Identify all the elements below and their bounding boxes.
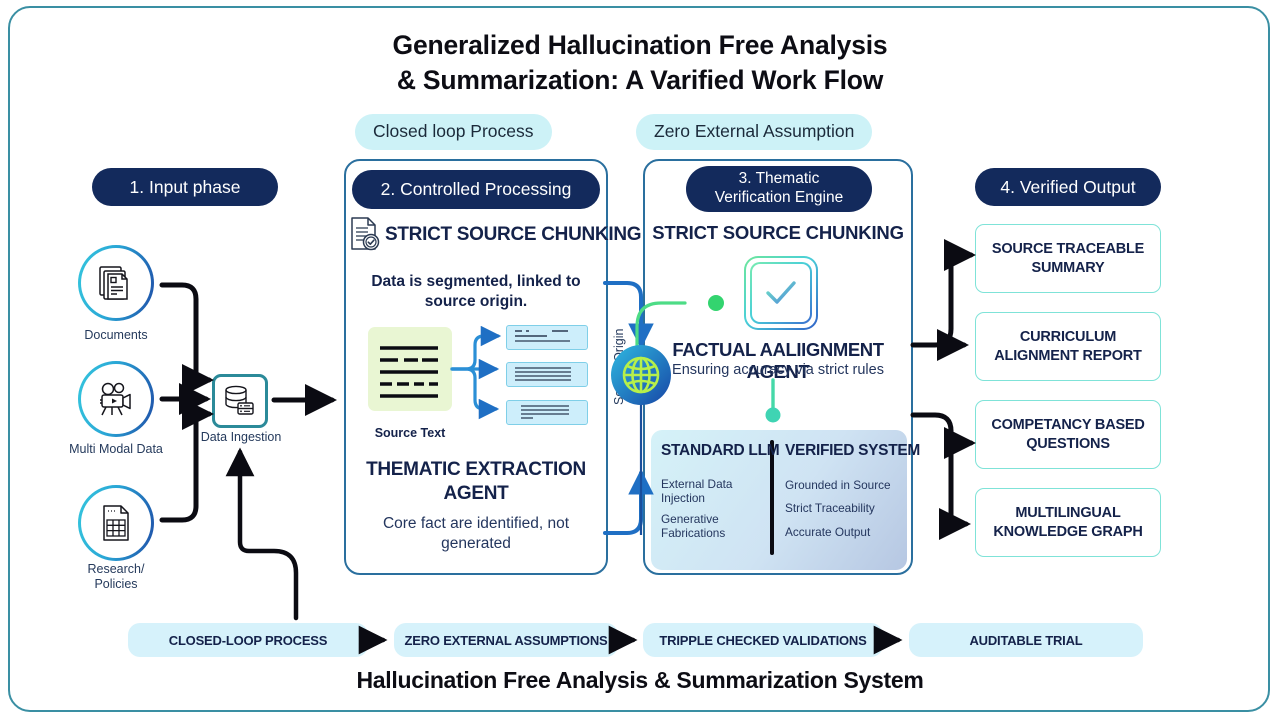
source-circle-research-policies [78, 485, 154, 561]
chunk-box-3 [506, 400, 588, 425]
source-text-block [368, 327, 452, 411]
chunk-lines-1 [507, 326, 587, 349]
source-circle-documents [78, 245, 154, 321]
source-text-lines [368, 327, 452, 411]
processing-subtitle: Data is segmented, linked to source orig… [352, 272, 600, 313]
source-label-multi-modal: Multi Modal Data [31, 442, 201, 457]
output-box-source-traceable-summary: SOURCE TRACEABLE SUMMARY [975, 224, 1161, 293]
tag-zero-external-assumption: Zero External Assumption [636, 114, 872, 150]
verified-system-item-3: Accurate Output [785, 525, 870, 539]
documents-stack-icon [93, 260, 139, 306]
footer-step-zero-external-assumptions: ZERO EXTERNAL ASSUMPTIONS [394, 623, 618, 657]
chip-verified-output: 4. Verified Output [975, 168, 1161, 206]
footer-step-auditable-trial: AUDITABLE TRIAL [909, 623, 1143, 657]
checkmark-box-icon [750, 262, 812, 324]
tag-closed-loop-process: Closed loop Process [355, 114, 552, 150]
verification-strict-source-chunking-heading: STRICT SOURCE CHUNKING [646, 222, 910, 244]
footer-step-tripple-checked-validations: TRIPPLE CHECKED VALIDATIONS [643, 623, 883, 657]
video-camera-icon [92, 376, 140, 422]
thematic-extraction-agent-title: THEMATIC EXTRACTION AGENT [352, 458, 600, 507]
output-box-curriculum-alignment-report: CURRICULUM ALIGNMENT REPORT [975, 312, 1161, 381]
factual-alignment-agent-subtitle: Ensuring accuracy via strict rules [646, 362, 910, 378]
page-title-line-1: Generalized Hallucination Free Analysis [0, 28, 1280, 63]
chunk-lines-3 [507, 401, 587, 424]
thematic-extraction-agent-subtitle: Core fact are identified, not generated [352, 514, 600, 554]
chunk-box-2 [506, 362, 588, 387]
output-box-competancy-based-questions: COMPETANCY BASED QUESTIONS [975, 400, 1161, 469]
verified-system-item-2: Strict Traceability [785, 501, 875, 515]
chip-input-phase: 1. Input phase [92, 168, 278, 206]
source-label-research-policies: Research/ Policies [31, 562, 201, 591]
footer-step-closed-loop-process: CLOSED-LOOP PROCESS [128, 623, 368, 657]
comparison-verified-system-heading: VERIFIED SYSTEM [785, 442, 920, 460]
standard-llm-item-2: Generative Fabrications [661, 512, 725, 540]
output-box-multilingual-knowledge-graph: MULTILINGUAL KNOWLEDGE GRAPH [975, 488, 1161, 557]
chunk-box-1 [506, 325, 588, 350]
source-origin-label: Source Origin [612, 329, 626, 405]
verified-system-item-1: Grounded in Source [785, 478, 891, 492]
source-label-documents: Documents [31, 328, 201, 343]
standard-llm-item-1: External Data Injection [661, 477, 732, 505]
page-title: Generalized Hallucination Free Analysis … [0, 28, 1280, 98]
footer-title: Hallucination Free Analysis & Summarizat… [0, 667, 1280, 694]
document-check-icon [349, 216, 381, 257]
comparison-standard-llm-heading: STANDARD LLM [661, 442, 779, 460]
data-ingestion-label: Data Ingestion [186, 430, 296, 444]
spreadsheet-document-icon [94, 500, 138, 546]
source-circle-multi-modal [78, 361, 154, 437]
data-ingestion-box [212, 374, 268, 428]
chip-thematic-verification-engine: 3. Thematic Verification Engine [686, 166, 872, 212]
chip-controlled-processing: 2. Controlled Processing [352, 170, 600, 209]
strict-source-chunking-heading: STRICT SOURCE CHUNKING [385, 224, 641, 246]
page-title-line-2: & Summarization: A Varified Work Flow [0, 63, 1280, 98]
source-text-label: Source Text [358, 426, 462, 440]
diagram-canvas: Generalized Hallucination Free Analysis … [0, 0, 1280, 720]
chunk-lines-2 [507, 363, 587, 386]
database-server-icon [220, 382, 260, 420]
